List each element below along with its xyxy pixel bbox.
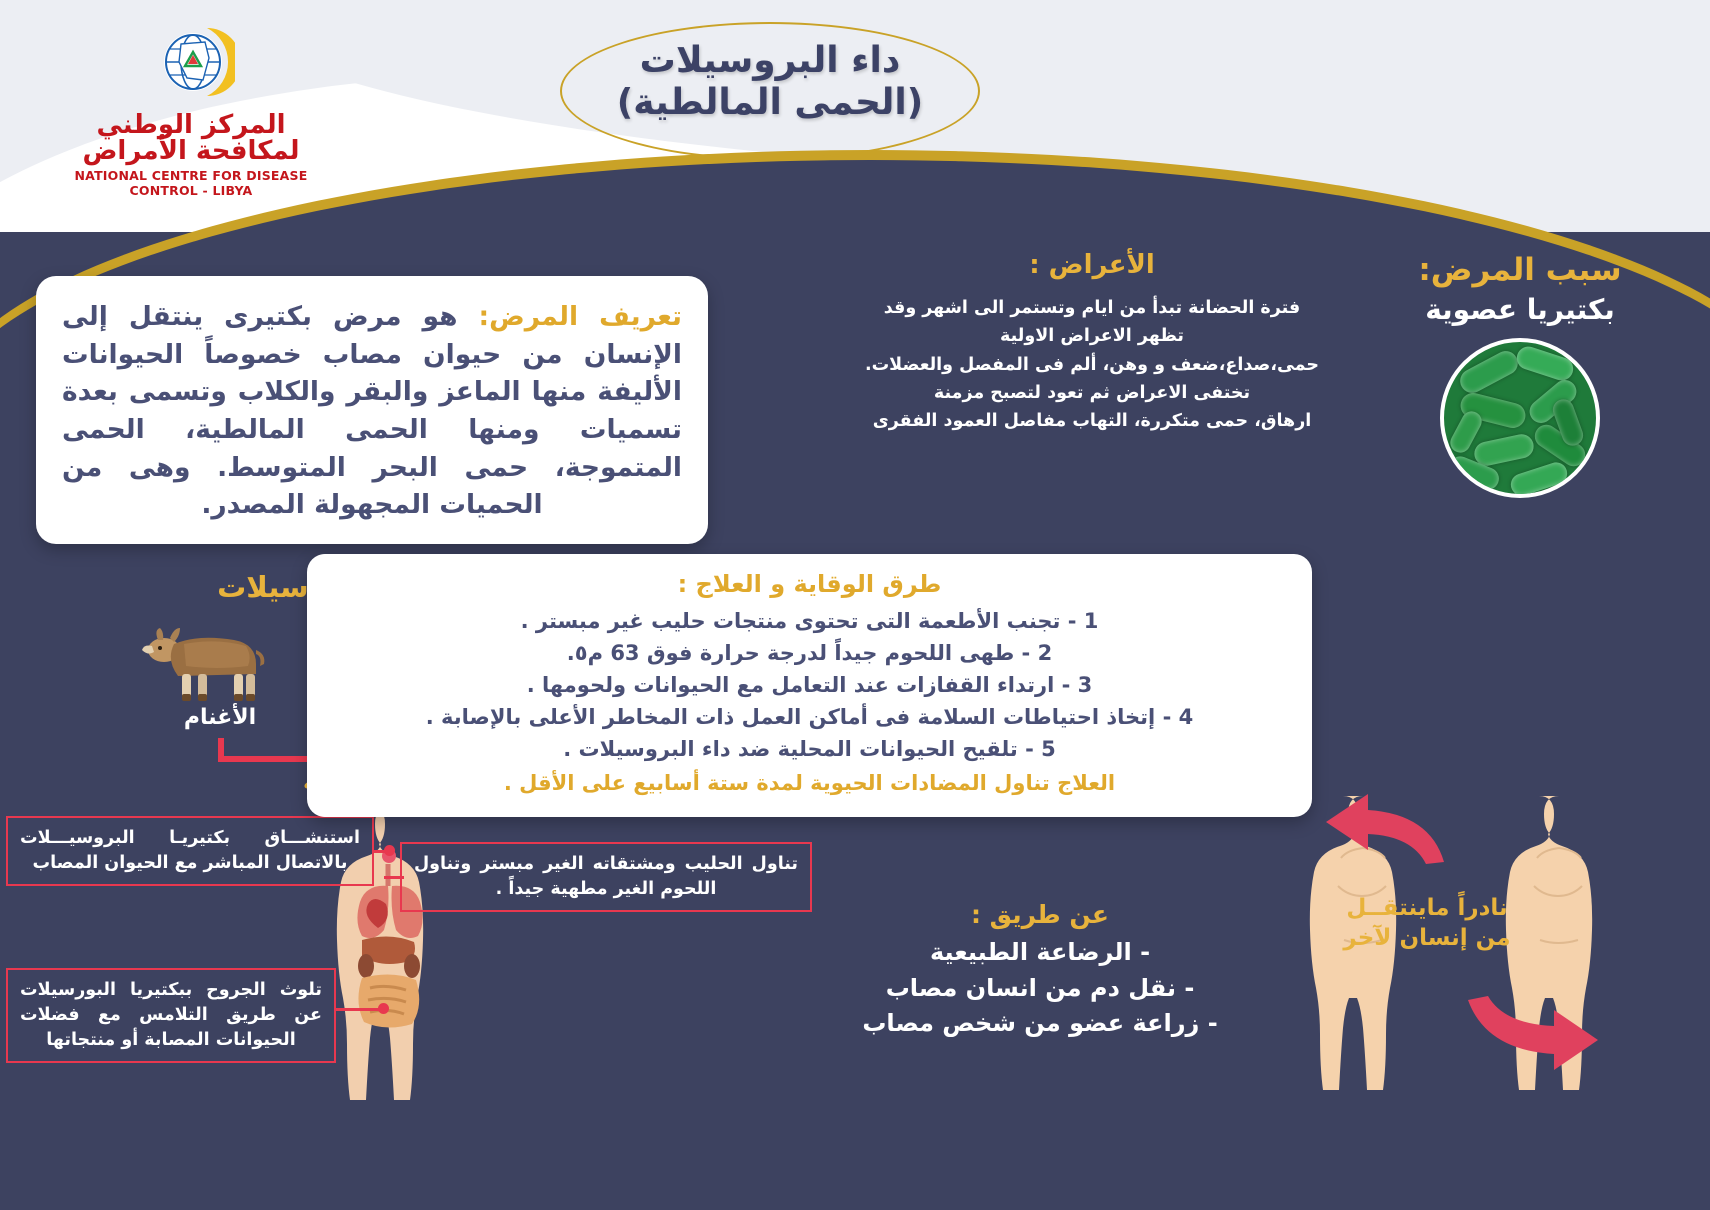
bacteria-image <box>1440 338 1600 498</box>
routes-title: عن طريق : <box>830 900 1250 929</box>
h2h-label-line2: من إنسان لآخر <box>1312 923 1542 953</box>
page-title: داء البروسيلات (الحمى المالطية) <box>560 40 980 125</box>
cause-section: سبب المرض: بكتيريا عصوية <box>1370 252 1670 498</box>
symptoms-line-4: تختفى الاعراض ثم تعود لتصبح مزمنة <box>842 379 1342 407</box>
symptoms-line-2: تظهر الاعراض الاولية <box>842 322 1342 350</box>
routes-item-2: - نقل دم من انسان مصاب <box>830 971 1250 1007</box>
cause-value: بكتيريا عصوية <box>1370 293 1670 326</box>
definition-text: تعريف المرض: هو مرض بكتيرى ينتقل إلى الإ… <box>62 298 682 524</box>
prevention-treatment-note: العلاج تناول المضادات الحيوية لمدة ستة أ… <box>337 768 1282 800</box>
prevention-item-3: 3 - ارتداء القفازات عند التعامل مع الحيو… <box>337 670 1282 702</box>
prevention-card: طرق الوقاية و العلاج : 1 - تجنب الأطعمة … <box>307 554 1312 817</box>
h2h-label-line1: نادراً ماينتقــل <box>1312 893 1542 923</box>
symptoms-section: الأعراض : فترة الحضانة تبدأ من ايام وتست… <box>842 250 1342 436</box>
logo-english-text: NATIONAL CENTRE FOR DISEASE CONTROL - LI… <box>46 168 336 198</box>
symptoms-line-3: حمى،صداع،ضعف و وهن، ألم فى المفصل والعضل… <box>842 351 1342 379</box>
callout-wound-contact: تلوث الجروح ببكتيريا البورسيلات عن طريق … <box>6 968 336 1063</box>
routes-item-3: - زراعة عضو من شخص مصاب <box>830 1006 1250 1042</box>
page-title-line1: داء البروسيلات <box>560 40 980 82</box>
page-title-line2: (الحمى المالطية) <box>560 82 980 124</box>
callout-inhalation: استنشـــاق بكتيريـا البروسيـــلات بالاتص… <box>6 816 374 886</box>
logo-arabic-text: المركز الوطني لمكافحة الأمراض <box>46 112 336 164</box>
prevention-item-4: 4 - إتخاذ احتياطات السلامة فى أماكن العم… <box>337 702 1282 734</box>
animal-label-sheep: الأغنام <box>140 705 300 730</box>
ncdc-logo-mark <box>147 18 235 106</box>
definition-body: هو مرض بكتيرى ينتقل إلى الإنسان من حيوان… <box>62 301 682 520</box>
prevention-item-1: 1 - تجنب الأطعمة التى تحتوى منتجات حليب … <box>337 606 1282 638</box>
arrow-right-icon <box>1462 980 1652 1094</box>
definition-lead: تعريف المرض: <box>479 301 682 332</box>
ncdc-logo: المركز الوطني لمكافحة الأمراض NATIONAL C… <box>46 18 336 198</box>
cause-title: سبب المرض: <box>1370 252 1670 289</box>
callout-ingestion: تناول الحليب ومشتقاته الغير مبستر وتناول… <box>400 842 812 912</box>
callout-c-connector <box>336 1008 384 1011</box>
definition-card: تعريف المرض: هو مرض بكتيرى ينتقل إلى الإ… <box>36 276 708 544</box>
sheep-icon <box>136 612 270 712</box>
symptoms-line-1: فترة الحضانة تبدأ من ايام وتستمر الى اشه… <box>842 294 1342 322</box>
human-to-human-label: نادراً ماينتقــل من إنسان لآخر <box>1312 893 1542 954</box>
callout-c-dot <box>378 1003 389 1014</box>
symptoms-title: الأعراض : <box>842 250 1342 280</box>
prevention-item-2: 2 - طهى اللحوم جيداً لدرجة حرارة فوق 63 … <box>337 638 1282 670</box>
symptoms-line-5: ارهاق، حمى متكررة، التهاب مفاصل العمود ا… <box>842 407 1342 435</box>
prevention-title: طرق الوقاية و العلاج : <box>337 570 1282 598</box>
callout-a-dot <box>384 845 395 856</box>
transmission-routes-section: عن طريق : - الرضاعة الطبيعية - نقل دم من… <box>830 900 1250 1042</box>
prevention-item-5: 5 - تلقيح الحيوانات المحلية ضد داء البرو… <box>337 734 1282 766</box>
routes-item-1: - الرضاعة الطبيعية <box>830 935 1250 971</box>
